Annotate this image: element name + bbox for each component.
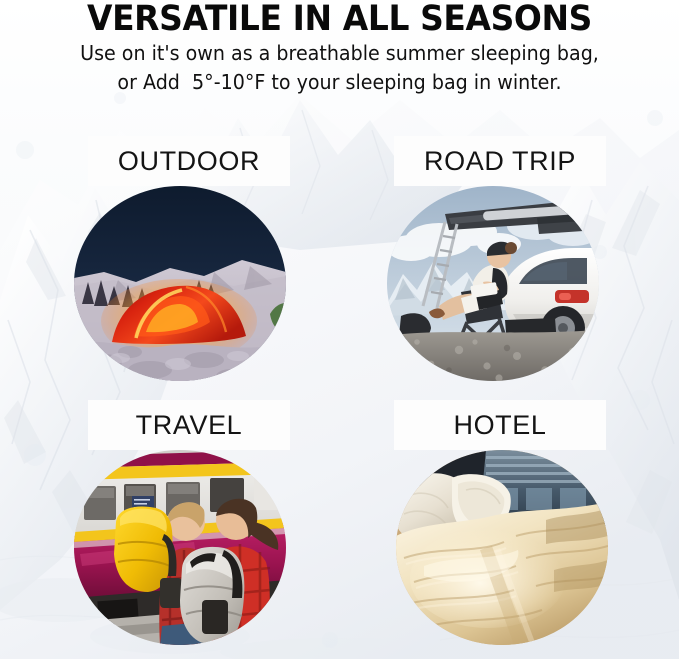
subtitle-line-1: Use on it's own as a breathable summer s… bbox=[24, 37, 655, 66]
header: VERSATILE IN ALL SEASONS Use on it's own… bbox=[0, 0, 679, 95]
label-box-travel: TRAVEL bbox=[88, 400, 290, 450]
photo-hotel-bed-with-duvet bbox=[396, 450, 608, 645]
label-box-outdoor: OUTDOOR bbox=[88, 136, 290, 186]
photo-backpackers-at-train bbox=[74, 450, 286, 645]
card-label-roadtrip: ROAD TRIP bbox=[424, 148, 576, 175]
label-box-roadtrip: ROAD TRIP bbox=[394, 136, 606, 186]
card-label-hotel: HOTEL bbox=[453, 412, 546, 439]
card-label-outdoor: OUTDOOR bbox=[118, 148, 260, 175]
card-label-travel: TRAVEL bbox=[136, 412, 243, 439]
subtitle-line-2: or Add 5°-10°F to your sleeping bag in w… bbox=[24, 66, 655, 95]
product-infographic: VERSATILE IN ALL SEASONS Use on it's own… bbox=[0, 0, 679, 659]
page-title: VERSATILE IN ALL SEASONS bbox=[20, 0, 658, 37]
label-box-hotel: HOTEL bbox=[394, 400, 606, 450]
photo-camper-beside-white-car bbox=[387, 186, 599, 381]
photo-tent-at-night-on-snow bbox=[74, 186, 286, 381]
